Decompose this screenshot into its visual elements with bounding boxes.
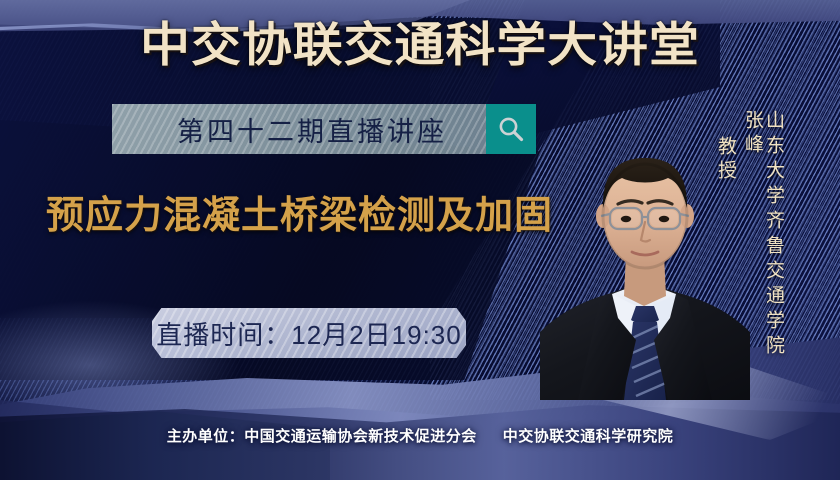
lecture-topic-title: 预应力混凝土桥梁检测及加固	[46, 190, 566, 242]
speaker-institution: 山东大学齐鲁交通学院	[760, 110, 787, 360]
search-button[interactable]	[486, 104, 536, 154]
speaker-rank: 教授	[712, 136, 739, 230]
footer-organizers: 主办单位：中国交通运输协会新技术促进分会中交协联交通科学研究院	[0, 425, 840, 446]
webinar-poster: 中交协联交通科学大讲堂 第四十二期直播讲座 预应力混凝土桥梁检测及加固 直播时间…	[0, 0, 840, 480]
live-time-text: 直播时间：12月2日19:30	[156, 315, 461, 352]
subtitle-label: 第四十二期直播讲座	[151, 110, 447, 149]
speaker-name-column: 张峰 教授	[712, 110, 766, 230]
footer-organizer-1: 中国交通运输协会新技术促进分会	[244, 428, 477, 445]
page-title: 中交协联交通科学大讲堂	[0, 16, 840, 74]
live-time-badge: 直播时间：12月2日19:30	[152, 308, 466, 358]
footer-organizer-2: 中交协联交通科学研究院	[503, 428, 674, 445]
subtitle-banner: 第四十二期直播讲座	[112, 104, 536, 154]
subtitle-plate: 第四十二期直播讲座	[112, 104, 486, 154]
search-icon	[496, 114, 526, 144]
footer-label: 主办单位：	[167, 428, 245, 445]
